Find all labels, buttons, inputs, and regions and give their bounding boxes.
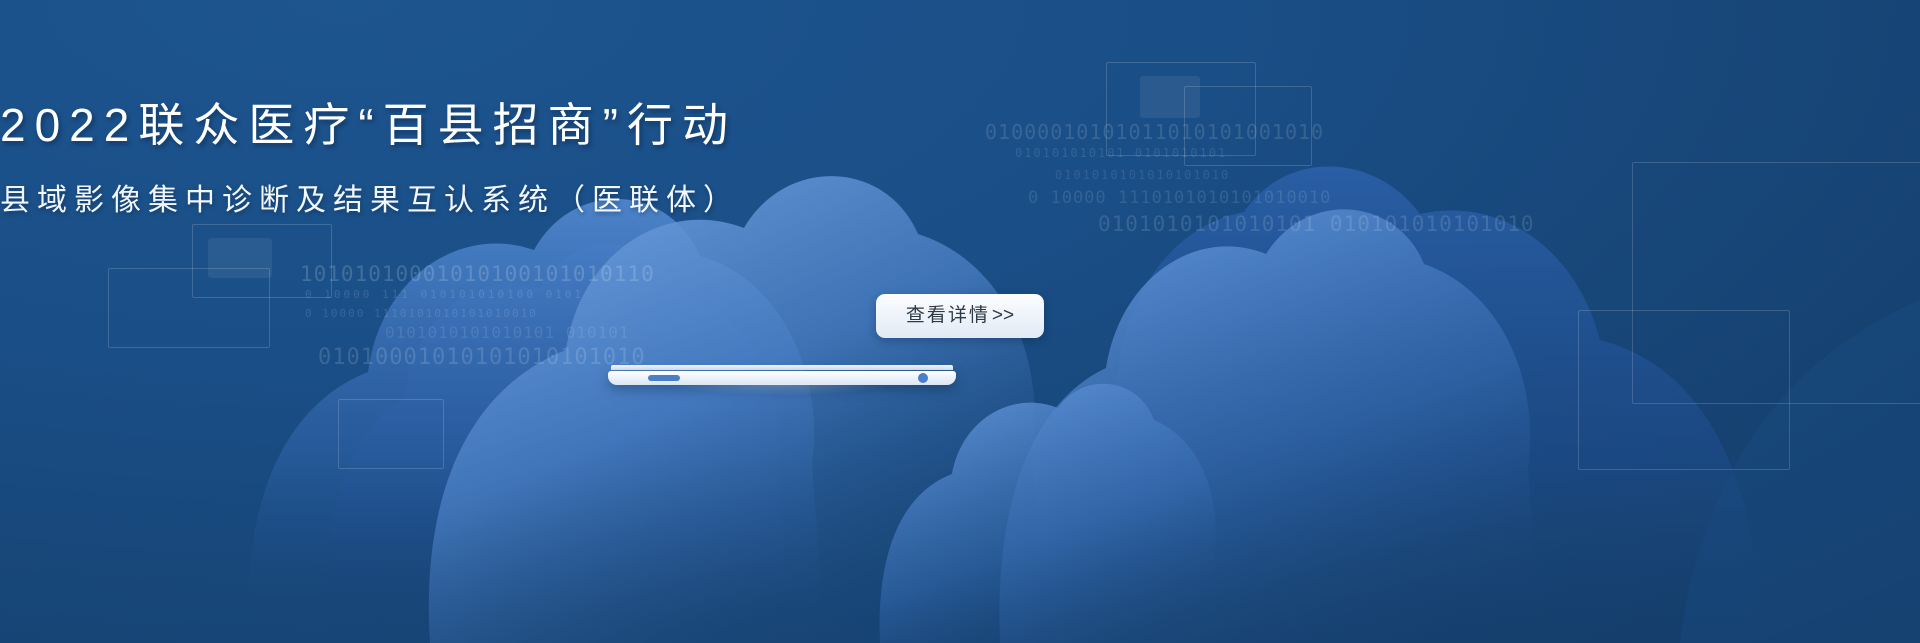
speaker-bar-icon	[648, 375, 680, 381]
device-screen-edge	[611, 365, 953, 370]
cta-container: 查看详情>>	[0, 294, 1920, 338]
decor-rectangle-outline	[338, 399, 444, 469]
promo-banner: 10101010001010100101010110 0 10000 111 0…	[0, 0, 1920, 643]
view-details-button[interactable]: 查看详情>>	[876, 294, 1044, 338]
device-reflection	[626, 384, 938, 400]
decor-rectangle-filled	[208, 238, 272, 278]
camera-dot-icon	[918, 373, 928, 383]
banner-subtitle: 县域影像集中诊断及结果互认系统（医联体）	[0, 180, 1920, 222]
double-chevron-right-icon: >>	[992, 305, 1014, 326]
banner-title: 2022联众医疗“百县招商”行动	[0, 96, 1920, 154]
tablet-device	[608, 365, 956, 387]
view-details-label: 查看详情	[906, 305, 990, 326]
